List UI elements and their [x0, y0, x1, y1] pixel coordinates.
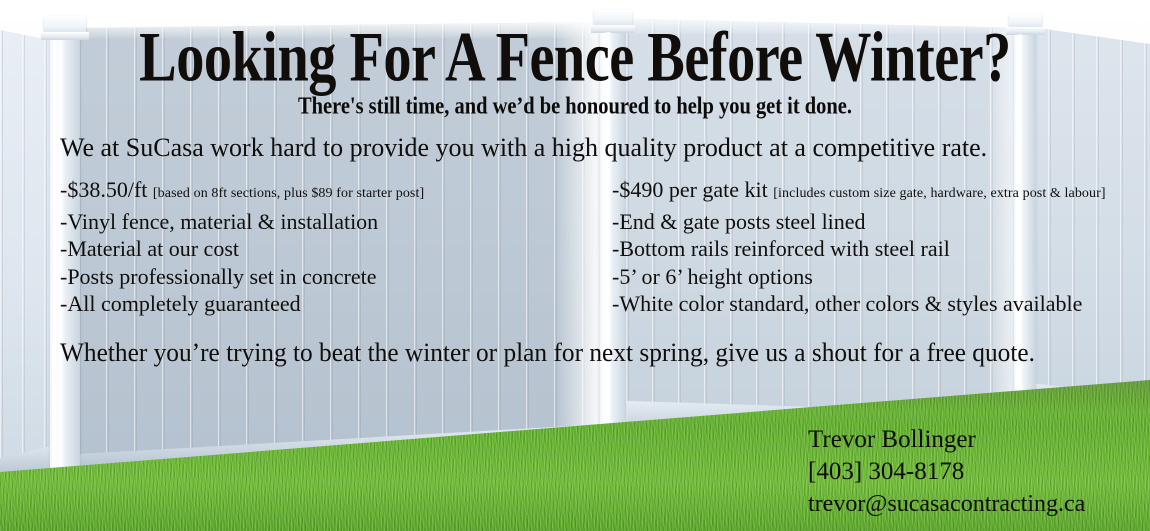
- list-item: -Material at our cost: [60, 235, 605, 263]
- closing-paragraph: Whether you’re trying to beat the winter…: [60, 338, 1123, 368]
- tagline: There's still time, and we’d be honoured…: [40, 91, 1110, 120]
- list-item: -$490 per gate kit [includes custom size…: [612, 176, 1150, 208]
- list-item: -$38.50/ft [based on 8ft sections, plus …: [60, 176, 605, 208]
- contact-name: Trevor Bollinger: [808, 424, 1085, 456]
- fence-advertisement: Looking For A Fence Before Winter? There…: [0, 0, 1150, 531]
- bullet-text: -$38.50/ft: [60, 177, 147, 202]
- list-item: -5’ or 6’ height options: [612, 263, 1150, 291]
- intro-paragraph: We at SuCasa work hard to provide you wi…: [60, 133, 1090, 163]
- list-item: -Posts professionally set in concrete: [60, 263, 605, 291]
- bullet-text: -$490 per gate kit: [612, 177, 768, 202]
- list-item: -White color standard, other colors & st…: [612, 290, 1150, 318]
- contact-block: Trevor Bollinger [403] 304-8178 trevor@s…: [808, 424, 1085, 520]
- headline: Looking For A Fence Before Winter?: [17, 22, 1133, 93]
- feature-column-right: -$490 per gate kit [includes custom size…: [612, 176, 1150, 318]
- contact-email[interactable]: trevor@sucasacontracting.ca: [808, 488, 1085, 520]
- bullet-note: [includes custom size gate, hardware, ex…: [773, 186, 1105, 201]
- list-item: -Vinyl fence, material & installation: [60, 208, 605, 236]
- feature-column-left: -$38.50/ft [based on 8ft sections, plus …: [60, 176, 605, 318]
- ad-text-layer: Looking For A Fence Before Winter? There…: [0, 0, 1150, 531]
- contact-phone[interactable]: [403] 304-8178: [808, 456, 1085, 488]
- list-item: -Bottom rails reinforced with steel rail: [612, 235, 1150, 263]
- list-item: -End & gate posts steel lined: [612, 208, 1150, 236]
- bullet-note: [based on 8ft sections, plus $89 for sta…: [153, 186, 424, 201]
- list-item: -All completely guaranteed: [60, 290, 605, 318]
